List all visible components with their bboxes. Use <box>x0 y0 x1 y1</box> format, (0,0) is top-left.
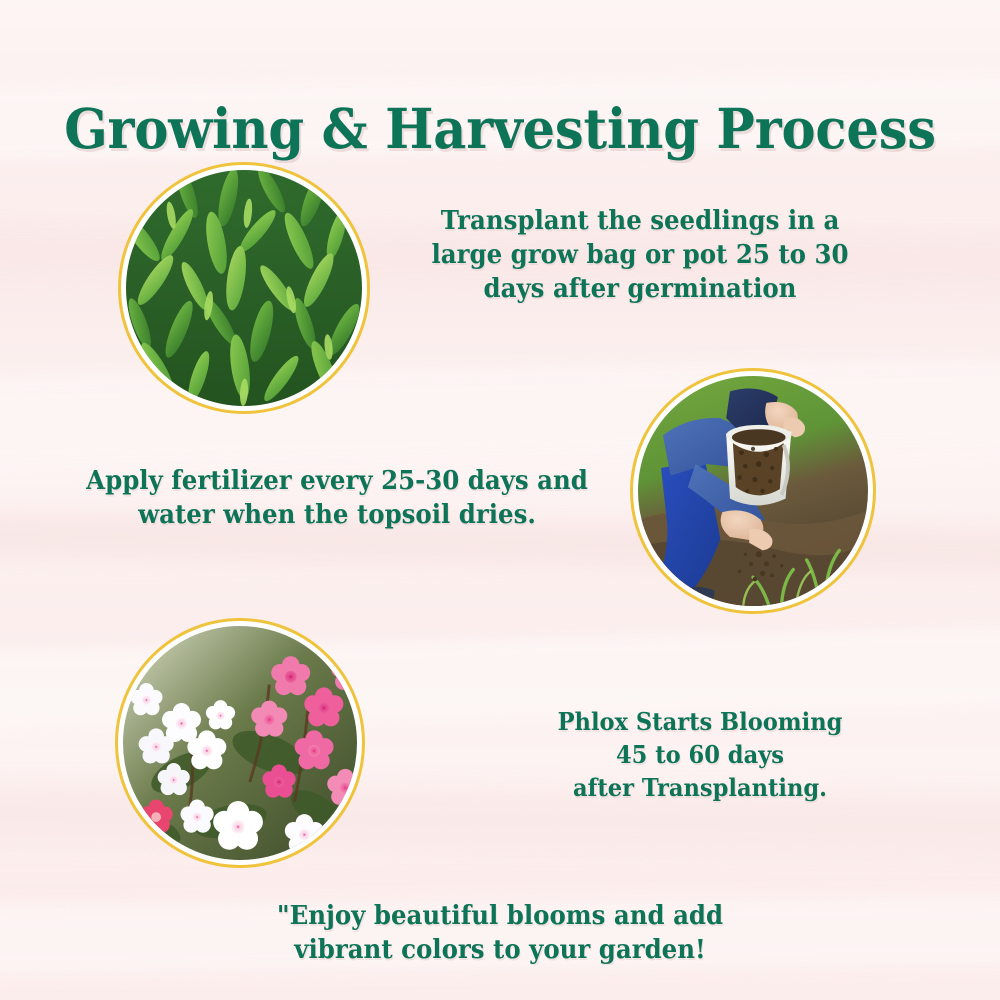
photo-frame-seedlings <box>118 162 370 414</box>
caption-closing-line-2: vibrant colors to your garden! <box>256 934 745 968</box>
growing-harvesting-infographic: Growing & Harvesting Process <box>0 0 1000 1000</box>
caption-blooming-line-1: Phlox Starts Blooming <box>512 705 888 738</box>
caption-closing: "Enjoy beautiful blooms and add vibrant … <box>256 900 745 968</box>
caption-blooming-line-3: after Transplanting. <box>512 771 888 804</box>
phlox-seedlings-photo <box>126 170 362 406</box>
caption-blooming-line-2: 45 to 60 days <box>512 738 888 771</box>
photo-frame-blooms <box>115 618 365 868</box>
caption-blooming: Phlox Starts Blooming 45 to 60 days afte… <box>512 705 888 804</box>
caption-closing-line-1: "Enjoy beautiful blooms and add <box>256 900 745 934</box>
phlox-blooms-photo <box>123 626 357 860</box>
applying-fertilizer-photo <box>638 376 868 606</box>
photo-frame-fertilizing <box>630 368 876 614</box>
caption-transplant: Transplant the seedlings in a large grow… <box>405 205 875 306</box>
caption-fertilizer: Apply fertilizer every 25-30 days and wa… <box>79 465 596 533</box>
page-title: Growing & Harvesting Process <box>35 99 965 158</box>
